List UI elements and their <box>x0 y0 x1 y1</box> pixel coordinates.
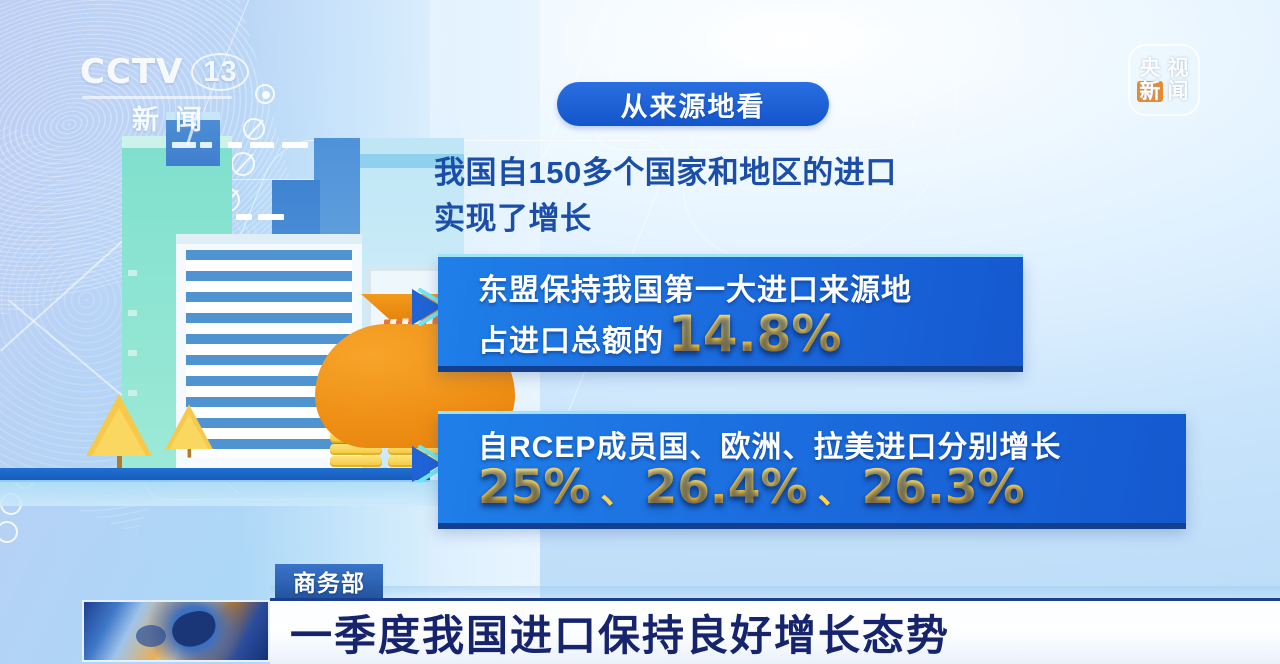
watermark-char-xin: 新 <box>1137 81 1163 102</box>
globe-graphic-icon <box>82 600 270 662</box>
lead-line-1: 我国自150多个国家和地区的进口 <box>434 155 897 190</box>
stat-panel-1-value: 14.8% <box>668 311 841 359</box>
stat-panel-2-value-2: 26.4% <box>645 464 808 511</box>
stat-panel-1-line-1: 东盟保持我国第一大进口来源地 <box>478 265 1009 309</box>
watermark-char-wen: 闻 <box>1165 81 1191 102</box>
source-tag-label: 商务部 <box>293 564 365 598</box>
building-striped-cap <box>176 234 362 244</box>
watermark-char-yang: 央 <box>1137 58 1163 79</box>
stat-panel-2: 自RCEP成员国、欧洲、拉美进口分别增长 25% 、 26.4% 、 26.3% <box>438 411 1186 523</box>
lower-third-bar: 一季度我国进口保持良好增长态势 <box>270 598 1280 664</box>
section-badge: 从来源地看 <box>557 82 829 126</box>
tree-2 <box>165 404 213 457</box>
stat-panel-2-value-1: 25% <box>478 464 591 511</box>
lead-line-2: 实现了增长 <box>434 196 1054 242</box>
watermark-char-shi: 视 <box>1165 58 1191 79</box>
cctv-channel-logo: CCTV 13 新闻 <box>80 52 270 138</box>
ground-highlight <box>0 480 470 506</box>
cctv-logo-underline <box>82 96 232 99</box>
cctv-channel-number: 13 <box>191 53 249 91</box>
stat-panel-2-separator-2: 、 <box>808 464 862 513</box>
news-headline: 一季度我国进口保持良好增长态势 <box>270 602 950 663</box>
stat-panel-2-separator-1: 、 <box>591 464 645 513</box>
broadcast-screen: CCTV 13 新闻 央 视 新 闻 从来源地看 我国自150多个国家和地区的进… <box>0 0 1280 664</box>
cctv-logo-cn-label: 新闻 <box>80 98 270 137</box>
lead-paragraph: 我国自150多个国家和地区的进口 实现了增长 <box>434 150 1054 242</box>
cctv-news-watermark: 央 视 新 闻 <box>1128 44 1200 116</box>
lower-third-shade <box>270 586 1280 598</box>
stat-panel-2-value-3: 26.3% <box>862 464 1025 511</box>
stat-panel-1: 东盟保持我国第一大进口来源地 占进口总额的 14.8% <box>438 254 1023 366</box>
stat-panel-1-label: 占进口总额的 <box>478 316 664 360</box>
source-tag: 商务部 <box>275 564 383 598</box>
cctv-logo-text: CCTV <box>80 52 183 92</box>
tree-1 <box>86 394 152 468</box>
section-badge-label: 从来源地看 <box>621 85 766 124</box>
